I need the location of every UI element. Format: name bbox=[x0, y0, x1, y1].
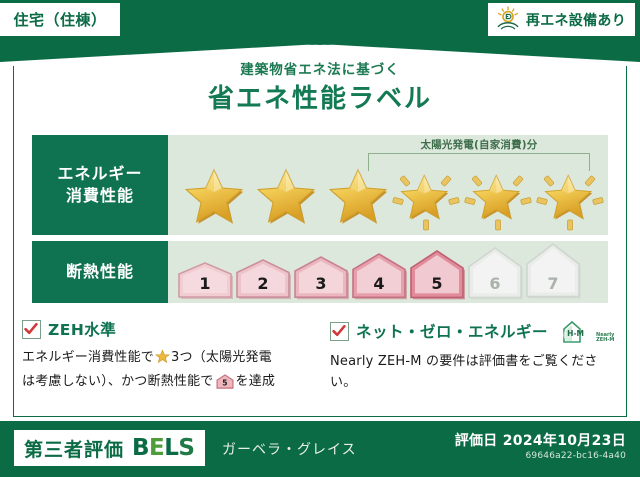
bels-letter-s: S bbox=[178, 435, 194, 461]
insulation-grade-2: 2 bbox=[234, 256, 292, 301]
criteria-columns: ZEH水準 エネルギー消費性能で3つ（太陽光発電 は考慮しない）、かつ断熱性能で… bbox=[22, 318, 622, 410]
insulation-grade-3: 3 bbox=[292, 253, 350, 301]
energy-rating-area: 太陽光発電(自家消費)分 bbox=[168, 135, 608, 235]
svg-text:5: 5 bbox=[222, 379, 227, 388]
energy-performance-label: エネルギー 消費性能 bbox=[32, 135, 168, 235]
zeh-desc-part2: 3つ（太陽光発電 bbox=[171, 350, 272, 365]
zeh-heading: ZEH水準 bbox=[22, 318, 314, 340]
solar-star-icon bbox=[534, 167, 606, 231]
zeh-desc-part1: エネルギー消費性能で bbox=[22, 350, 154, 365]
zeh-checkbox bbox=[22, 320, 41, 339]
solar-star-icon bbox=[390, 167, 462, 231]
renewable-equipment-label: 再エネ設備あり bbox=[526, 10, 626, 30]
building-type-tag: 住宅（住棟） bbox=[0, 3, 120, 36]
insulation-grade-number: 3 bbox=[292, 274, 350, 293]
energy-star-icon bbox=[246, 167, 318, 231]
insulation-grade-4: 4 bbox=[350, 250, 408, 301]
energy-label-line2: 消費性能 bbox=[66, 185, 134, 207]
evaluation-id: 69646a22-bc16-4a40 bbox=[526, 451, 627, 461]
insulation-rating-area: 1234567 bbox=[168, 241, 608, 303]
insulation-grade-number: 4 bbox=[350, 274, 408, 293]
inline-house-badge: 5 bbox=[216, 374, 234, 396]
insulation-grade-6: 6 bbox=[466, 244, 524, 302]
insulation-grade-number: 7 bbox=[524, 274, 582, 293]
energy-star-icon bbox=[318, 167, 390, 231]
netzero-criteria-block: ネット・ゼロ・エネルギー H-M Nearly ZEH-M Nearly ZEH… bbox=[314, 318, 622, 410]
energy-star-icon bbox=[174, 167, 246, 231]
insulation-grade-number: 2 bbox=[234, 274, 292, 293]
renewable-equipment-tag: 再エネ設備あり bbox=[488, 3, 635, 36]
bels-jp-label: 第三者評価 bbox=[24, 435, 124, 462]
insulation-grade-number: 5 bbox=[408, 274, 466, 293]
bels-letter-b: B bbox=[132, 435, 149, 461]
bels-letter-e: E bbox=[149, 435, 164, 461]
zeh-desc-part4: を達成 bbox=[236, 374, 276, 389]
insulation-grade-1: 1 bbox=[176, 259, 234, 301]
energy-label-line1: エネルギー bbox=[57, 163, 142, 185]
insulation-grade-list: 1234567 bbox=[176, 243, 608, 301]
label-subtitle: 建築物省エネ法に基づく bbox=[0, 58, 640, 78]
energy-star-list bbox=[168, 167, 608, 231]
zeh-m-caption-line2: ZEH-M bbox=[596, 337, 614, 343]
netzero-description: Nearly ZEH-M の要件は評価書をご覧ください。 bbox=[330, 351, 622, 394]
building-type-label: 住宅（住棟） bbox=[13, 9, 106, 30]
sun-solar-icon bbox=[495, 6, 521, 34]
solar-star-icon bbox=[462, 167, 534, 231]
energy-label-root: 住宅（住棟） 再エネ設備あり 建築物省エネ法に基づく 省エネ性能ラベル bbox=[0, 0, 640, 477]
insulation-performance-row: 断熱性能 1234567 bbox=[32, 241, 608, 303]
insulation-label-text: 断熱性能 bbox=[66, 261, 134, 283]
property-name: ガーベラ・グレイス bbox=[222, 439, 357, 459]
energy-performance-row: エネルギー 消費性能 太陽光発電(自家消費)分 bbox=[32, 135, 608, 235]
zeh-title: ZEH水準 bbox=[48, 318, 116, 340]
evaluation-date: 評価日 2024年10月23日 bbox=[455, 430, 626, 450]
insulation-performance-label: 断熱性能 bbox=[32, 241, 168, 303]
insulation-grade-number: 6 bbox=[466, 274, 524, 293]
netzero-checkbox bbox=[330, 322, 349, 341]
bels-letter-l: L bbox=[164, 435, 178, 461]
svg-text:H-M: H-M bbox=[567, 329, 584, 338]
netzero-heading: ネット・ゼロ・エネルギー H-M Nearly ZEH-M bbox=[330, 318, 622, 344]
insulation-grade-number: 1 bbox=[176, 274, 234, 293]
zeh-desc-part3: は考慮しない）、かつ断熱性能で bbox=[22, 374, 214, 389]
zeh-criteria-block: ZEH水準 エネルギー消費性能で3つ（太陽光発電 は考慮しない）、かつ断熱性能で… bbox=[22, 318, 314, 410]
insulation-grade-5: 5 bbox=[408, 247, 466, 301]
zeh-description: エネルギー消費性能で3つ（太陽光発電 は考慮しない）、かつ断熱性能で5を達成 bbox=[22, 347, 314, 397]
footer-bar: 第三者評価 BELS ガーベラ・グレイス 評価日 2024年10月23日 696… bbox=[0, 421, 640, 477]
label-title: 省エネ性能ラベル bbox=[0, 78, 640, 115]
zeh-m-logo-caption: Nearly ZEH-M bbox=[596, 333, 614, 345]
bels-badge: 第三者評価 BELS bbox=[14, 430, 205, 466]
insulation-grade-7: 7 bbox=[524, 240, 582, 301]
zeh-m-logo: H-M Nearly ZEH-M bbox=[561, 318, 614, 344]
bels-en-label: BELS bbox=[132, 435, 194, 461]
netzero-title: ネット・ゼロ・エネルギー bbox=[356, 320, 548, 342]
inline-star-icon bbox=[155, 349, 170, 371]
solar-bracket-label: 太陽光発電(自家消費)分 bbox=[354, 137, 604, 152]
